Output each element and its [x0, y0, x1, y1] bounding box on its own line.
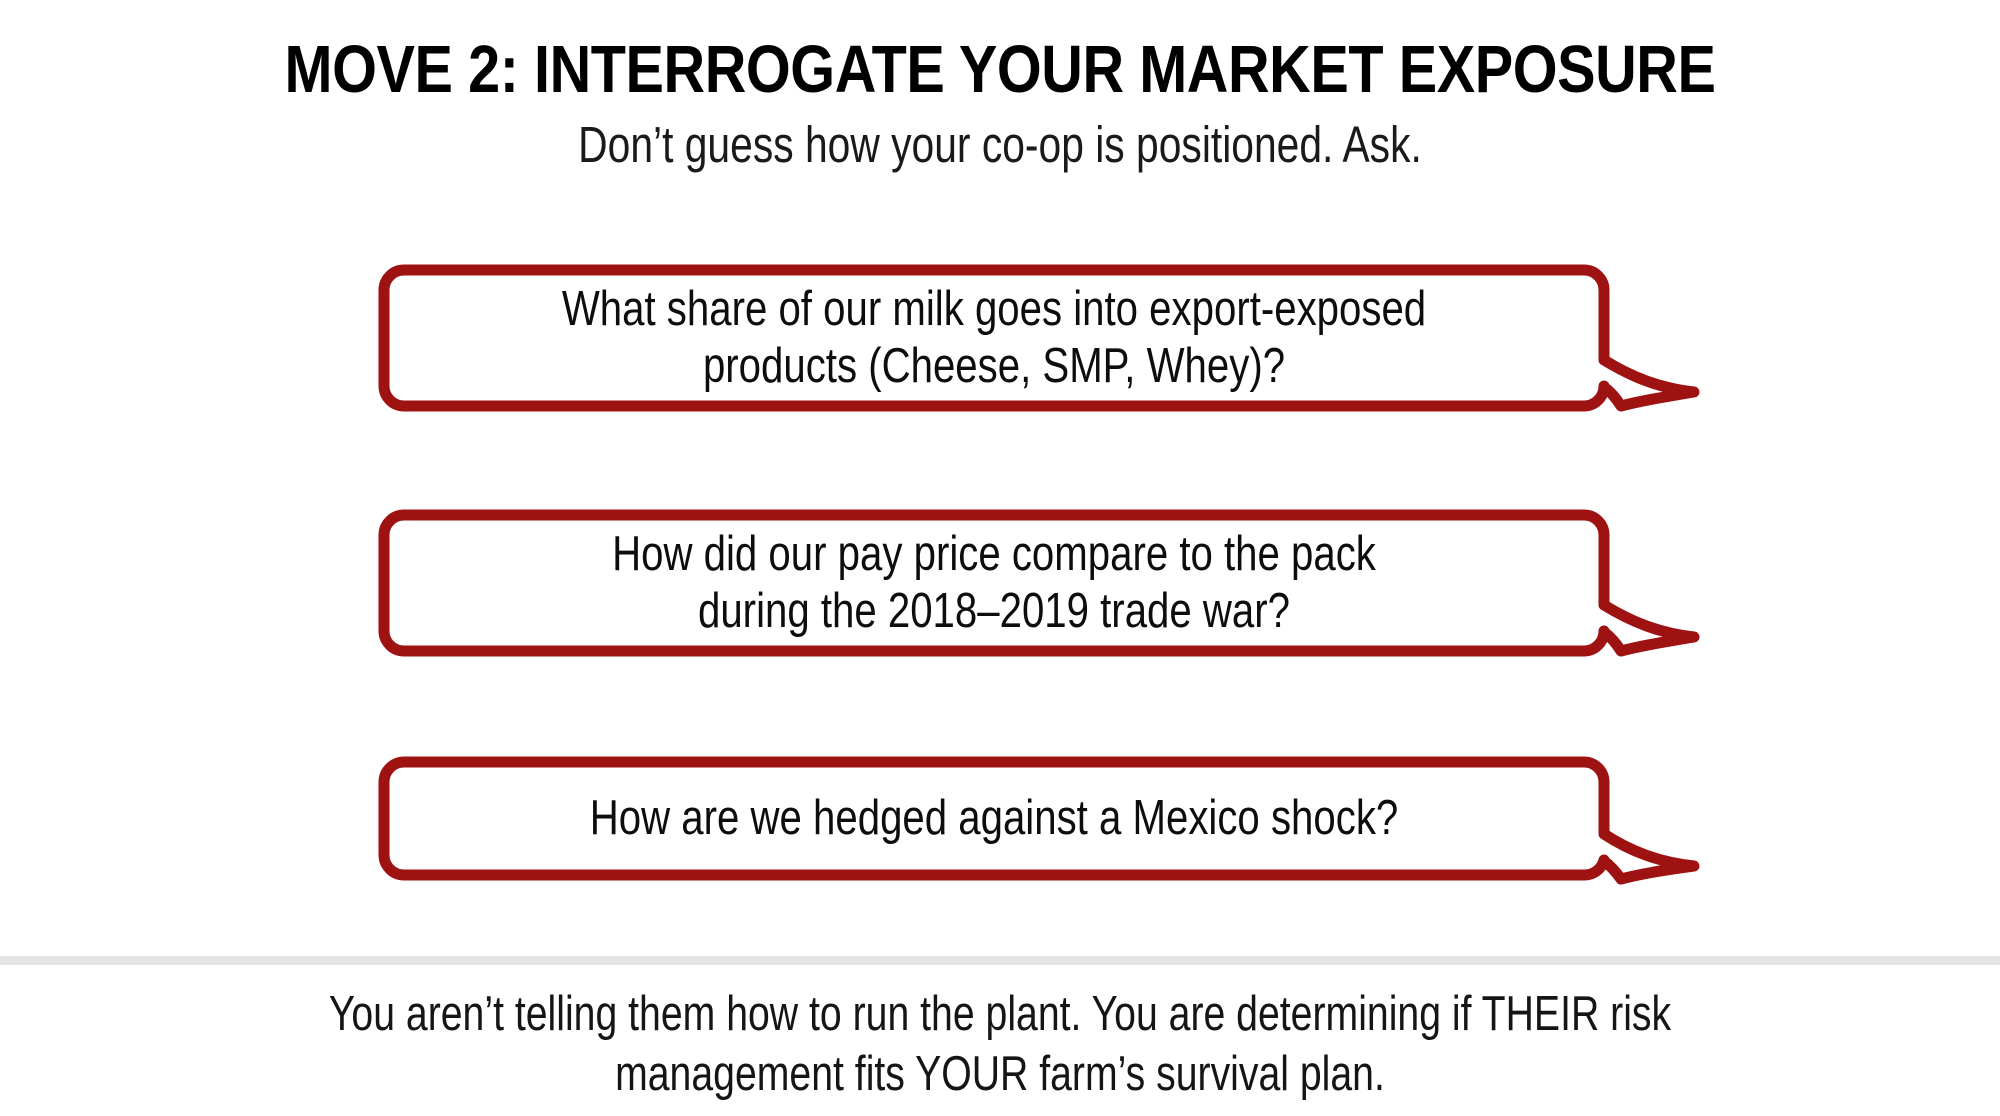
- bubble-line: during the 2018–2019 trade war?: [612, 583, 1376, 640]
- speech-bubble-export-exposure: What share of our milk goes into export-…: [378, 264, 1713, 412]
- speech-bubble-text: What share of our milk goes into export-…: [489, 264, 1499, 412]
- page-subtitle: Don’t guess how your co-op is positioned…: [200, 117, 1800, 173]
- footer-line: You aren’t telling them how to run the p…: [200, 985, 1800, 1045]
- speech-bubble-text: How did our pay price compare to the pac…: [489, 509, 1499, 657]
- speech-bubble-mexico-hedge: How are we hedged against a Mexico shock…: [378, 756, 1713, 881]
- question-bubble-list: What share of our milk goes into export-…: [0, 207, 2000, 907]
- slide-root: MOVE 2: INTERROGATE YOUR MARKET EXPOSURE…: [0, 0, 2000, 1116]
- speech-bubble-pay-price: How did our pay price compare to the pac…: [378, 509, 1713, 657]
- speech-bubble-text: How are we hedged against a Mexico shock…: [489, 756, 1499, 881]
- footer-divider: [0, 956, 2000, 965]
- footer-line: management fits YOUR farm’s survival pla…: [200, 1045, 1800, 1105]
- bubble-line: products (Cheese, SMP, Whey)?: [562, 338, 1426, 395]
- bubble-line: What share of our milk goes into export-…: [562, 281, 1426, 338]
- slide-header: MOVE 2: INTERROGATE YOUR MARKET EXPOSURE…: [0, 34, 2000, 173]
- bubble-line: How did our pay price compare to the pac…: [612, 526, 1376, 583]
- bubble-line: How are we hedged against a Mexico shock…: [590, 790, 1399, 847]
- footer-note: You aren’t telling them how to run the p…: [0, 985, 2000, 1105]
- page-title: MOVE 2: INTERROGATE YOUR MARKET EXPOSURE: [140, 34, 1860, 105]
